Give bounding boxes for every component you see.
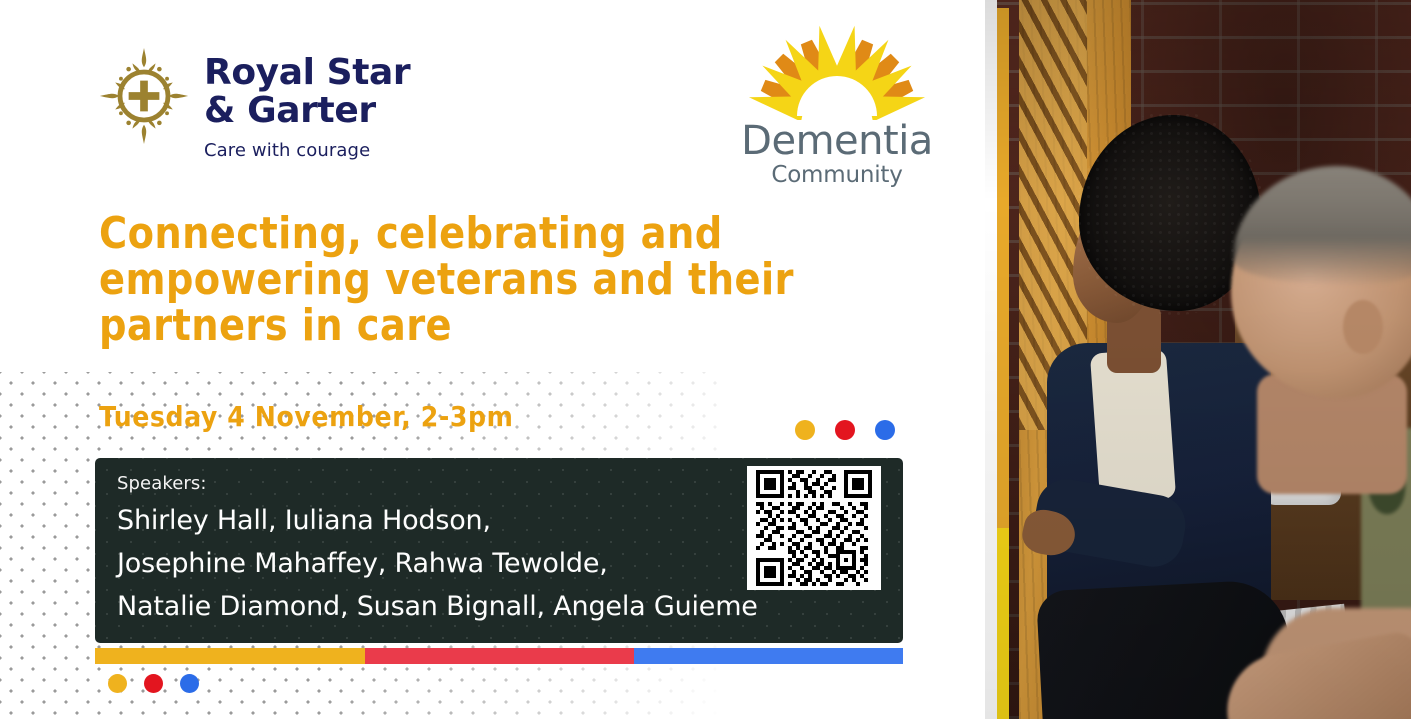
brand-color-bar — [95, 648, 903, 664]
dot-gold — [108, 674, 127, 693]
speakers-label: Speakers: — [117, 473, 207, 494]
accent-dots-bottom — [108, 674, 199, 693]
dot-blue — [180, 674, 199, 693]
logo-line-2: & Garter — [204, 92, 410, 130]
partner-logo-name: Dementia — [737, 120, 937, 162]
dot-red — [835, 420, 855, 440]
dot-red — [144, 674, 163, 693]
accent-stripe-yellow — [997, 528, 1009, 719]
dementia-community-logo: Dementia Community — [737, 24, 937, 188]
accent-dots-top — [795, 420, 895, 440]
foreground-man — [1221, 178, 1411, 719]
content-column: Royal Star & Garter Care with courage — [0, 0, 985, 719]
page-title: Connecting, celebrating and empowering v… — [99, 211, 875, 349]
speakers-line-3: Natalie Diamond, Susan Bignall, Angela G… — [117, 585, 887, 628]
logo-line-1: Royal Star — [204, 54, 410, 92]
qr-code[interactable] — [747, 466, 881, 590]
accent-stripe-amber — [997, 8, 1009, 528]
bar-segment-gold — [95, 648, 365, 664]
dementia-community-sunburst — [739, 24, 935, 120]
dot-blue — [875, 420, 895, 440]
photo-left-margin — [985, 0, 997, 719]
royal-star-garter-emblem — [96, 44, 192, 148]
man-hair — [1233, 166, 1411, 286]
event-photo — [985, 0, 1411, 719]
man-ear — [1343, 300, 1383, 354]
bar-segment-blue — [634, 648, 903, 664]
logo-tagline: Care with courage — [204, 140, 410, 161]
speakers-panel: Speakers: Shirley Hall, Iuliana Hodson, … — [95, 458, 903, 643]
bar-segment-red — [365, 648, 634, 664]
event-date-time: Tuesday 4 November, 2-3pm — [99, 400, 514, 433]
royal-star-garter-wordmark: Royal Star & Garter Care with courage — [204, 44, 410, 161]
dot-gold — [795, 420, 815, 440]
event-promo-banner: Royal Star & Garter Care with courage — [0, 0, 1411, 719]
partner-logo-subtitle: Community — [737, 162, 937, 188]
royal-star-garter-logo: Royal Star & Garter Care with courage — [96, 44, 410, 161]
